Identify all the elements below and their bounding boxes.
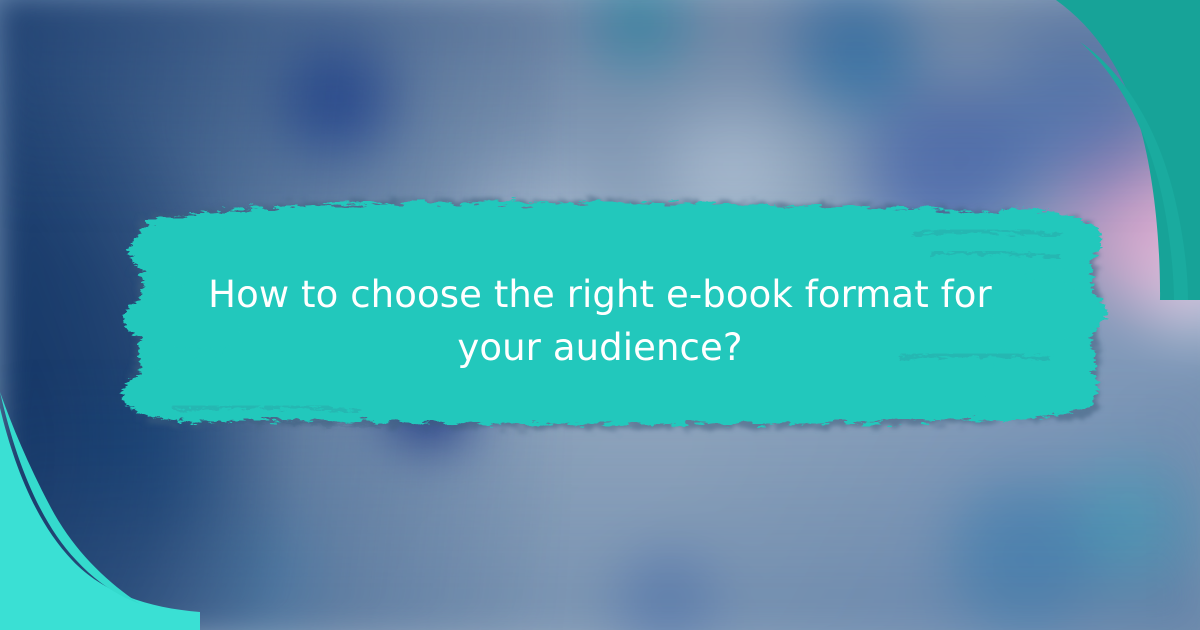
page-title: How to choose the right e-book format fo… xyxy=(150,268,1050,374)
cover-canvas: How to choose the right e-book format fo… xyxy=(0,0,1200,630)
headline-line-1: How to choose the right e-book format fo… xyxy=(150,268,1050,321)
headline-line-2: your audience? xyxy=(150,321,1050,374)
